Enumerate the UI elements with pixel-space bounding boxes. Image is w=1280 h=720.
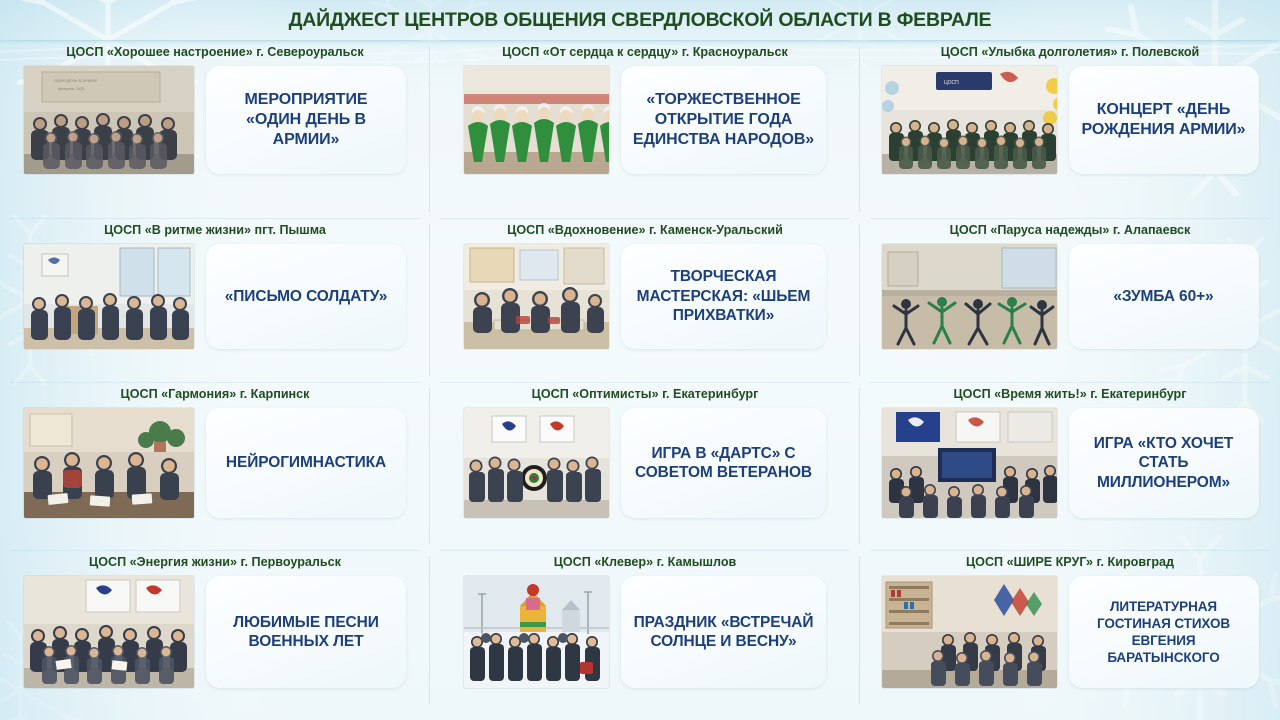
card-body: «ЗУМБА 60+» xyxy=(860,244,1280,349)
card-title: ЦОСП «Энергия жизни» г. Первоуральск xyxy=(89,555,341,570)
card-body: НЕЙРОГИМНАСТИКА xyxy=(0,408,430,518)
card-caption-text: «ЗУМБА 60+» xyxy=(1113,287,1213,307)
card-caption: «ЗУМБА 60+» xyxy=(1069,244,1259,349)
card-title: ЦОСП «Гармония» г. Карпинск xyxy=(121,387,310,402)
card-title: ЦОСП «ШИРЕ КРУГ» г. Кировград xyxy=(966,555,1174,570)
svg-text:ОДИН ДЕНЬ В АРМИИ: ОДИН ДЕНЬ В АРМИИ xyxy=(54,78,97,83)
card-body: ЛИТЕРАТУРНАЯ ГОСТИНАЯ СТИХОВ ЕВГЕНИЯ БАР… xyxy=(860,576,1280,688)
photo-folk-ensemble-krasnouralsk xyxy=(464,66,609,174)
card-1[interactable]: ЦОСП «От сердца к сердцу» г. Красноураль… xyxy=(430,40,860,218)
photo-quiz-game-ekaterinburg xyxy=(882,408,1057,518)
card-caption: НЕЙРОГИМНАСТИКА xyxy=(206,408,406,518)
photo-neuro-gymnastics-karpinsk xyxy=(24,408,194,518)
photo-concert-hall-polevskoy: ЦОСП xyxy=(882,66,1057,174)
card-caption-text: ПРАЗДНИК «ВСТРЕЧАЙ СОЛНЦЕ И ВЕСНУ» xyxy=(631,613,816,652)
card-caption: ЛЮБИМЫЕ ПЕСНИ ВОЕННЫХ ЛЕТ xyxy=(206,576,406,688)
card-body: ПРАЗДНИК «ВСТРЕЧАЙ СОЛНЦЕ И ВЕСНУ» xyxy=(430,576,860,688)
photo-literary-salon-kirovgrad xyxy=(882,576,1057,688)
card-caption: ТВОРЧЕСКАЯ МАСТЕРСКАЯ: «ШЬЕМ ПРИХВАТКИ» xyxy=(621,244,826,349)
card-caption: «ПИСЬМО СОЛДАТУ» xyxy=(206,244,406,349)
photo-wartime-songs-pervouralsk xyxy=(24,576,194,688)
card-caption: МЕРОПРИЯТИЕ «ОДИН ДЕНЬ В АРМИИ» xyxy=(206,66,406,174)
card-caption-text: «ТОРЖЕСТВЕННОЕ ОТКРЫТИЕ ГОДА ЕДИНСТВА НА… xyxy=(631,90,816,150)
card-caption-text: ЛЮБИМЫЕ ПЕСНИ ВОЕННЫХ ЛЕТ xyxy=(216,613,396,652)
card-caption-text: МЕРОПРИЯТИЕ «ОДИН ДЕНЬ В АРМИИ» xyxy=(216,90,396,150)
digest-poster: ДАЙДЖЕСТ ЦЕНТРОВ ОБЩЕНИЯ СВЕРДЛОВСКОЙ ОБ… xyxy=(0,0,1280,720)
card-title: ЦОСП «Время жить!» г. Екатеринбург xyxy=(953,387,1186,402)
card-caption-text: НЕЙРОГИМНАСТИКА xyxy=(226,453,386,473)
card-caption: ИГРА «КТО ХОЧЕТ СТАТЬ МИЛЛИОНЕРОМ» xyxy=(1069,408,1259,518)
card-2[interactable]: ЦОСП «Улыбка долголетия» г. Полевской ЦО… xyxy=(860,40,1280,218)
photo-letter-writing-pyshma xyxy=(24,244,194,349)
card-caption-text: ИГРА В «ДАРТС» С СОВЕТОМ ВЕТЕРАНОВ xyxy=(631,444,816,483)
poster-header: ДАЙДЖЕСТ ЦЕНТРОВ ОБЩЕНИЯ СВЕРДЛОВСКОЙ ОБ… xyxy=(0,0,1280,40)
card-caption-text: «ПИСЬМО СОЛДАТУ» xyxy=(225,287,387,307)
card-5[interactable]: ЦОСП «Паруса надежды» г. Алапаевск xyxy=(860,218,1280,382)
card-title: ЦОСП «Оптимисты» г. Екатеринбург xyxy=(532,387,759,402)
card-caption: «ТОРЖЕСТВЕННОЕ ОТКРЫТИЕ ГОДА ЕДИНСТВА НА… xyxy=(621,66,826,174)
card-body: ИГРА «КТО ХОЧЕТ СТАТЬ МИЛЛИОНЕРОМ» xyxy=(860,408,1280,518)
card-title: ЦОСП «От сердца к сердцу» г. Красноураль… xyxy=(502,45,788,60)
photo-zumba-class-alapaevsk xyxy=(882,244,1057,349)
card-body: ОДИН ДЕНЬ В АРМИИ февраль 2025 xyxy=(0,66,430,174)
card-8[interactable]: ЦОСП «Время жить!» г. Екатеринбург xyxy=(860,382,1280,550)
card-body: ИГРА В «ДАРТС» С СОВЕТОМ ВЕТЕРАНОВ xyxy=(430,408,860,518)
card-10[interactable]: ЦОСП «Клевер» г. Камышлов xyxy=(430,550,860,710)
card-0[interactable]: ЦОСП «Хорошее настроение» г. Североураль… xyxy=(0,40,430,218)
card-body: «ТОРЖЕСТВЕННОЕ ОТКРЫТИЕ ГОДА ЕДИНСТВА НА… xyxy=(430,66,860,174)
svg-text:февраль 2025: февраль 2025 xyxy=(58,86,85,91)
svg-text:ЦОСП: ЦОСП xyxy=(944,80,959,86)
photo-maslenitsa-kamyshlov xyxy=(464,576,609,688)
card-title: ЦОСП «Вдохновение» г. Каменск-Уральский xyxy=(507,223,783,238)
card-11[interactable]: ЦОСП «ШИРЕ КРУГ» г. Кировград xyxy=(860,550,1280,710)
cards-grid: ЦОСП «Хорошее настроение» г. Североураль… xyxy=(0,40,1280,720)
card-caption: ЛИТЕРАТУРНАЯ ГОСТИНАЯ СТИХОВ ЕВГЕНИЯ БАР… xyxy=(1069,576,1259,688)
card-title: ЦОСП «В ритме жизни» пгт. Пышма xyxy=(104,223,326,238)
photo-darts-game-ekaterinburg xyxy=(464,408,609,518)
card-caption-text: ТВОРЧЕСКАЯ МАСТЕРСКАЯ: «ШЬЕМ ПРИХВАТКИ» xyxy=(631,267,816,326)
card-caption: ИГРА В «ДАРТС» С СОВЕТОМ ВЕТЕРАНОВ xyxy=(621,408,826,518)
card-body: «ПИСЬМО СОЛДАТУ» xyxy=(0,244,430,349)
card-9[interactable]: ЦОСП «Энергия жизни» г. Первоуральск xyxy=(0,550,430,710)
card-title: ЦОСП «Клевер» г. Камышлов xyxy=(554,555,737,570)
card-title: ЦОСП «Улыбка долголетия» г. Полевской xyxy=(941,45,1200,60)
card-title: ЦОСП «Паруса надежды» г. Алапаевск xyxy=(950,223,1191,238)
card-body: ТВОРЧЕСКАЯ МАСТЕРСКАЯ: «ШЬЕМ ПРИХВАТКИ» xyxy=(430,244,860,349)
card-6[interactable]: ЦОСП «Гармония» г. Карпинск xyxy=(0,382,430,550)
card-3[interactable]: ЦОСП «В ритме жизни» пгт. Пышма xyxy=(0,218,430,382)
photo-sewing-workshop-kamensk-uralsky xyxy=(464,244,609,349)
photo-group-indoor-severouralsk: ОДИН ДЕНЬ В АРМИИ февраль 2025 xyxy=(24,66,194,174)
card-caption-text: КОНЦЕРТ «ДЕНЬ РОЖДЕНИЯ АРМИИ» xyxy=(1079,100,1249,140)
card-caption: ПРАЗДНИК «ВСТРЕЧАЙ СОЛНЦЕ И ВЕСНУ» xyxy=(621,576,826,688)
card-4[interactable]: ЦОСП «Вдохновение» г. Каменск-Уральский xyxy=(430,218,860,382)
card-caption: КОНЦЕРТ «ДЕНЬ РОЖДЕНИЯ АРМИИ» xyxy=(1069,66,1259,174)
card-body: ЛЮБИМЫЕ ПЕСНИ ВОЕННЫХ ЛЕТ xyxy=(0,576,430,688)
card-caption-text: ЛИТЕРАТУРНАЯ ГОСТИНАЯ СТИХОВ ЕВГЕНИЯ БАР… xyxy=(1079,598,1249,666)
card-7[interactable]: ЦОСП «Оптимисты» г. Екатеринбург xyxy=(430,382,860,550)
card-body: ЦОСП xyxy=(860,66,1280,174)
card-caption-text: ИГРА «КТО ХОЧЕТ СТАТЬ МИЛЛИОНЕРОМ» xyxy=(1079,434,1249,493)
card-title: ЦОСП «Хорошее настроение» г. Североураль… xyxy=(66,45,363,60)
page-title: ДАЙДЖЕСТ ЦЕНТРОВ ОБЩЕНИЯ СВЕРДЛОВСКОЙ ОБ… xyxy=(289,9,992,32)
